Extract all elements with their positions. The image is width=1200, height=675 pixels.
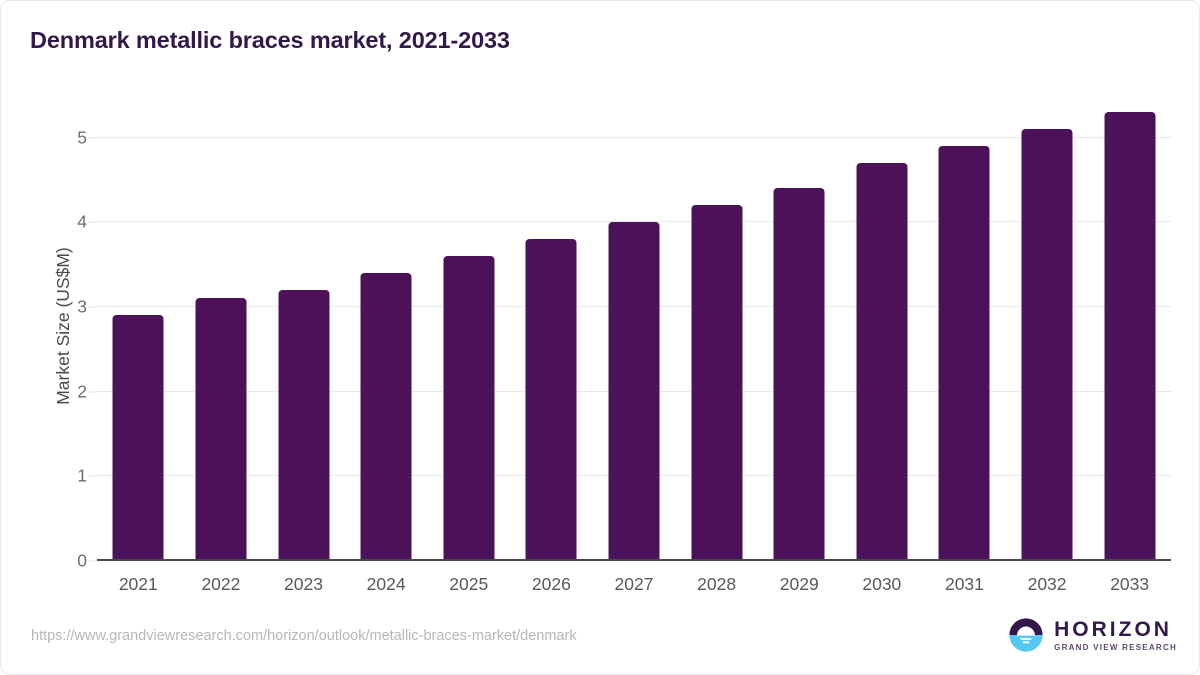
x-axis-line [97,559,1171,561]
bar-group: 2033 [1088,91,1171,561]
x-tick-label: 2030 [862,574,901,595]
bar[interactable] [774,188,825,561]
plot-area: 012345 202120222023202420252026202720282… [97,91,1171,561]
bar[interactable] [278,290,329,561]
bar[interactable] [113,315,164,561]
x-tick-label: 2023 [284,574,323,595]
y-tick-mark [88,137,97,138]
logo-tagline: GRAND VIEW RESEARCH [1054,644,1177,652]
bar[interactable] [608,222,659,561]
bar-group: 2027 [593,91,676,561]
y-tick-mark [88,561,97,562]
bar[interactable] [443,256,494,561]
x-tick-label: 2027 [615,574,654,595]
y-tick-mark [88,476,97,477]
bar[interactable] [691,205,742,561]
bar-group: 2031 [923,91,1006,561]
y-tick-mark [88,391,97,392]
bar-group: 2025 [427,91,510,561]
logo-wordmark: HORIZON [1054,619,1177,640]
x-tick-label: 2029 [780,574,819,595]
horizon-sunrise-icon [1007,616,1045,654]
bar-group: 2030 [841,91,924,561]
bar-group: 2029 [758,91,841,561]
bar-group: 2023 [262,91,345,561]
source-url[interactable]: https://www.grandviewresearch.com/horizo… [31,628,577,644]
x-tick-label: 2032 [1028,574,1067,595]
x-tick-label: 2028 [697,574,736,595]
bar-group: 2022 [180,91,263,561]
page-title: Denmark metallic braces market, 2021-203… [30,27,510,54]
x-tick-label: 2025 [449,574,488,595]
bar[interactable] [361,273,412,561]
x-tick-label: 2021 [119,574,158,595]
plot-inner: 012345 202120222023202420252026202720282… [97,91,1171,561]
x-tick-label: 2022 [201,574,240,595]
bar-group: 2024 [345,91,428,561]
bar[interactable] [195,298,246,561]
chart-page: Denmark metallic braces market, 2021-203… [0,0,1200,675]
bar-group: 2032 [1006,91,1089,561]
bar[interactable] [939,146,990,561]
logo-text: HORIZON GRAND VIEW RESEARCH [1054,619,1177,652]
y-tick-mark [88,222,97,223]
x-tick-label: 2024 [367,574,406,595]
y-tick-mark [88,306,97,307]
bar-series: 2021202220232024202520262027202820292030… [97,91,1171,561]
bar-group: 2028 [675,91,758,561]
bar[interactable] [856,163,907,561]
bar-group: 2026 [510,91,593,561]
x-tick-label: 2026 [532,574,571,595]
bar-group: 2021 [97,91,180,561]
bar[interactable] [1022,129,1073,561]
x-tick-label: 2033 [1110,574,1149,595]
bar[interactable] [1104,112,1155,561]
x-tick-label: 2031 [945,574,984,595]
horizon-logo[interactable]: HORIZON GRAND VIEW RESEARCH [1007,616,1177,654]
bar[interactable] [526,239,577,561]
y-axis-title: Market Size (US$M) [43,91,83,561]
